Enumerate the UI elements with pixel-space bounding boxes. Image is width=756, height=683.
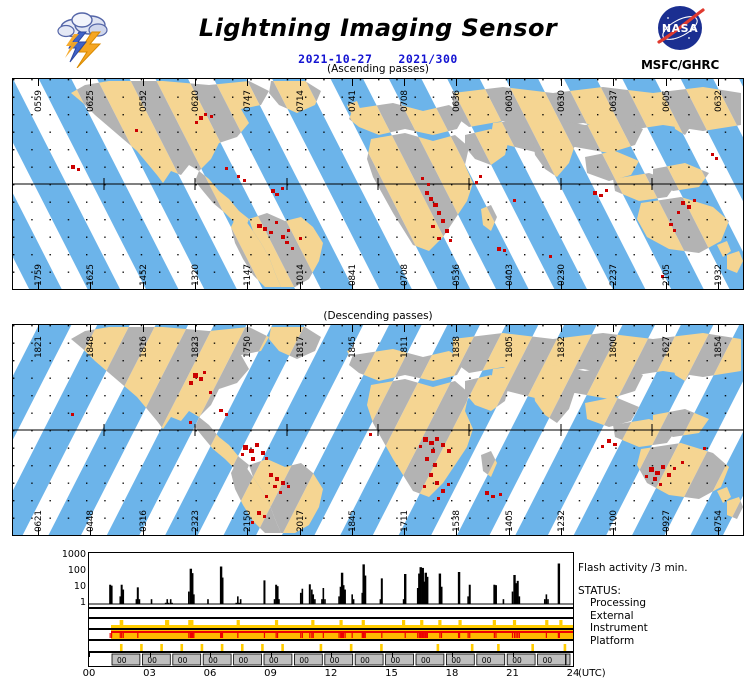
map-ascending-tick-label: 2237 bbox=[609, 264, 619, 286]
map-ascending-tick-mark bbox=[143, 79, 144, 86]
map-ascending-tick-label: 0714 bbox=[296, 90, 306, 112]
map-ascending-tick-mark bbox=[456, 282, 457, 289]
map-descending-tick-mark bbox=[143, 528, 144, 535]
time-axis-label: 03 bbox=[143, 668, 156, 679]
map-ascending-tick-label: 2105 bbox=[662, 264, 672, 286]
svg-text:00: 00 bbox=[512, 656, 522, 665]
map-descending-tick-mark bbox=[38, 325, 39, 332]
map-descending-tick-mark bbox=[718, 528, 719, 535]
map-descending-tick-label: 1811 bbox=[400, 336, 410, 358]
svg-text:00: 00 bbox=[360, 656, 370, 665]
status-band-processing bbox=[88, 608, 574, 618]
map-ascending-tick-label: 1147 bbox=[243, 264, 253, 286]
map-descending-tick-label: 1821 bbox=[34, 336, 44, 358]
map-ascending-tick-label: 0708 bbox=[400, 90, 410, 112]
map-descending-tick-label: 1848 bbox=[86, 336, 96, 358]
time-axis-unit: (UTC) bbox=[578, 668, 606, 679]
map-ascending-tick-mark bbox=[561, 79, 562, 86]
map-ascending-tick-label: 0636 bbox=[452, 90, 462, 112]
map-descending-tick-label: 2150 bbox=[243, 510, 253, 532]
map-ascending-tick-mark bbox=[38, 79, 39, 86]
map-ascending-tick-mark bbox=[718, 79, 719, 86]
y-tick-100: 100 bbox=[68, 565, 86, 576]
map-descending-tick-mark bbox=[509, 325, 510, 332]
map-descending-tick-mark bbox=[718, 325, 719, 332]
platform-band-canvas bbox=[89, 641, 573, 651]
map-descending-tick-mark bbox=[404, 528, 405, 535]
map-ascending-tick-label: 0605 bbox=[662, 90, 672, 112]
map-descending-tick-label: 1805 bbox=[505, 336, 515, 358]
map-descending-tick-label: 1845 bbox=[348, 510, 358, 532]
time-axis-label: 15 bbox=[385, 668, 398, 679]
time-axis-tick bbox=[392, 652, 393, 657]
map-ascending-tick-label: 0741 bbox=[348, 90, 358, 112]
time-axis-label: 00 bbox=[83, 668, 96, 679]
y-tick-1: 1 bbox=[80, 597, 86, 608]
map-descending-tick-mark bbox=[143, 325, 144, 332]
map-ascending-tick-label: 0536 bbox=[452, 264, 462, 286]
map-ascending-tick-label: 1932 bbox=[714, 264, 724, 286]
map-descending-tick-mark bbox=[352, 528, 353, 535]
map-ascending-tick-mark bbox=[561, 282, 562, 289]
map-ascending-tick-label: 1625 bbox=[86, 264, 96, 286]
map-descending-tick-label: 0927 bbox=[662, 510, 672, 532]
map-ascending-tick-label: 0603 bbox=[505, 90, 515, 112]
svg-text:00: 00 bbox=[543, 656, 553, 665]
map-ascending-tick-mark bbox=[195, 79, 196, 86]
map-descending-tick-mark bbox=[352, 325, 353, 332]
map-ascending-tick-mark bbox=[613, 282, 614, 289]
map-descending-tick-label: 1627 bbox=[662, 336, 672, 358]
map-descending-tick-label: 1405 bbox=[505, 510, 515, 532]
map-ascending-tick-label: 0630 bbox=[557, 90, 567, 112]
map-descending-canvas bbox=[13, 325, 743, 535]
legend-item-processing: Processing bbox=[578, 597, 753, 610]
map-ascending-tick-label: 0230 bbox=[557, 264, 567, 286]
time-axis-label: 12 bbox=[325, 668, 338, 679]
map-ascending-tick-label: 1320 bbox=[191, 264, 201, 286]
map-ascending-tick-mark bbox=[195, 282, 196, 289]
map-descending-tick-mark bbox=[404, 325, 405, 332]
svg-text:00: 00 bbox=[451, 656, 461, 665]
map-descending-tick-mark bbox=[666, 528, 667, 535]
map-ascending-tick-mark bbox=[509, 79, 510, 86]
map-ascending-tick-mark bbox=[718, 282, 719, 289]
svg-text:00: 00 bbox=[299, 656, 309, 665]
map-descending-tick-mark bbox=[561, 325, 562, 332]
page-header: Lightning Imaging Sensor 2021-10-272021/… bbox=[0, 0, 756, 76]
legend-item-external: External bbox=[578, 610, 753, 623]
map-descending-tick-mark bbox=[300, 325, 301, 332]
svg-text:00: 00 bbox=[269, 656, 279, 665]
descending-subtitle: (Descending passes) bbox=[0, 310, 756, 322]
map-descending-tick-mark bbox=[456, 528, 457, 535]
legend-status-heading: STATUS: bbox=[578, 585, 753, 598]
time-axis-label: 09 bbox=[264, 668, 277, 679]
svg-text:00: 00 bbox=[208, 656, 218, 665]
map-ascending-tick-label: 0620 bbox=[191, 90, 201, 112]
map-ascending-tick-mark bbox=[247, 79, 248, 86]
map-descending-tick-mark bbox=[38, 528, 39, 535]
map-descending-tick-mark bbox=[613, 325, 614, 332]
map-descending-tick-label: 0754 bbox=[714, 510, 724, 532]
map-descending-tick-mark bbox=[247, 528, 248, 535]
map-descending-tick-label: 1100 bbox=[609, 510, 619, 532]
y-tick-10: 10 bbox=[74, 581, 86, 592]
svg-text:00: 00 bbox=[147, 656, 157, 665]
map-ascending-frame bbox=[12, 78, 744, 290]
map-descending-tick-label: 1817 bbox=[296, 336, 306, 358]
status-band-platform bbox=[88, 640, 574, 652]
map-descending-tick-mark bbox=[509, 528, 510, 535]
time-axis-tick bbox=[271, 652, 272, 657]
map-ascending-tick-label: 1014 bbox=[296, 264, 306, 286]
map-descending-tick-label: 1838 bbox=[452, 336, 462, 358]
processing-band-canvas bbox=[89, 609, 573, 617]
svg-text:00: 00 bbox=[421, 656, 431, 665]
map-descending-frame bbox=[12, 324, 744, 536]
svg-text:00: 00 bbox=[117, 656, 127, 665]
time-axis-tick bbox=[89, 652, 90, 657]
instrument-band-canvas bbox=[89, 630, 573, 639]
map-descending-tick-label: 1845 bbox=[348, 336, 358, 358]
map-ascending-tick-mark bbox=[38, 282, 39, 289]
map-ascending-tick-mark bbox=[90, 282, 91, 289]
map-descending-tick-label: 0316 bbox=[139, 510, 149, 532]
map-descending-tick-label: 1232 bbox=[557, 510, 567, 532]
nasa-logo-block: NASA MSFC/GHRC bbox=[620, 4, 740, 72]
time-axis-tick bbox=[210, 652, 211, 657]
agency-caption: MSFC/GHRC bbox=[620, 58, 740, 72]
svg-text:00: 00 bbox=[482, 656, 492, 665]
legend-flash-activity: Flash activity /3 min. bbox=[578, 562, 753, 575]
map-ascending-tick-label: 0552 bbox=[139, 90, 149, 112]
map-descending-tick-mark bbox=[90, 325, 91, 332]
map-descending-tick-mark bbox=[247, 325, 248, 332]
map-descending-tick-mark bbox=[195, 528, 196, 535]
legend-item-instrument: Instrument bbox=[578, 622, 753, 635]
map-ascending-tick-mark bbox=[247, 282, 248, 289]
map-ascending-tick-label: 1452 bbox=[139, 264, 149, 286]
time-axis-tick bbox=[513, 652, 514, 657]
legend: Flash activity /3 min. STATUS: Processin… bbox=[578, 562, 753, 647]
map-ascending-tick-label: 0841 bbox=[348, 264, 358, 286]
time-axis: 000306091215182124(UTC) bbox=[88, 667, 618, 683]
time-axis-tick bbox=[452, 652, 453, 657]
map-ascending-tick-mark bbox=[143, 282, 144, 289]
map-ascending-tick-mark bbox=[300, 79, 301, 86]
map-ascending-tick-label: 1759 bbox=[34, 264, 44, 286]
time-axis-tick bbox=[150, 652, 151, 657]
map-descending-tick-mark bbox=[90, 528, 91, 535]
map-descending-tick-label: 1711 bbox=[400, 510, 410, 532]
flash-activity-canvas bbox=[89, 553, 573, 607]
map-descending-tick-label: 1823 bbox=[191, 336, 201, 358]
time-axis-label: 21 bbox=[506, 668, 519, 679]
map-ascending-tick-mark bbox=[300, 282, 301, 289]
map-descending-tick-mark bbox=[613, 528, 614, 535]
external-band-canvas bbox=[89, 619, 573, 628]
nasa-meatball-icon: NASA bbox=[649, 4, 711, 52]
activity-panel: 1000 100 10 1 bbox=[0, 548, 756, 680]
map-descending-tick-label: 0448 bbox=[86, 510, 96, 532]
map-ascending-passes: 0559062505520620074707140741070806360603… bbox=[12, 78, 744, 290]
svg-text:NASA: NASA bbox=[662, 22, 698, 35]
map-ascending-tick-label: 0747 bbox=[243, 90, 253, 112]
map-descending-tick-label: 0621 bbox=[34, 510, 44, 532]
svg-text:00: 00 bbox=[330, 656, 340, 665]
svg-text:00: 00 bbox=[239, 656, 249, 665]
map-ascending-tick-mark bbox=[352, 282, 353, 289]
map-descending-tick-mark bbox=[666, 325, 667, 332]
map-descending-tick-mark bbox=[561, 528, 562, 535]
legend-item-platform: Platform bbox=[578, 635, 753, 648]
map-ascending-tick-mark bbox=[90, 79, 91, 86]
flash-activity-plot bbox=[88, 552, 574, 608]
y-tick-1000: 1000 bbox=[62, 549, 86, 560]
time-axis-tick bbox=[331, 652, 332, 657]
map-ascending-tick-mark bbox=[404, 79, 405, 86]
flash-y-axis: 1000 100 10 1 bbox=[50, 552, 86, 608]
map-ascending-tick-mark bbox=[404, 282, 405, 289]
map-ascending-tick-label: 0632 bbox=[714, 90, 724, 112]
map-ascending-tick-mark bbox=[509, 282, 510, 289]
map-ascending-tick-mark bbox=[352, 79, 353, 86]
map-descending-tick-label: 2017 bbox=[296, 510, 306, 532]
map-ascending-tick-label: 0625 bbox=[86, 90, 96, 112]
map-ascending-tick-label: 0637 bbox=[609, 90, 619, 112]
map-descending-tick-mark bbox=[456, 325, 457, 332]
map-descending-tick-label: 1854 bbox=[714, 336, 724, 358]
map-ascending-tick-label: 0559 bbox=[34, 90, 44, 112]
svg-text:00: 00 bbox=[391, 656, 401, 665]
map-descending-tick-label: 1816 bbox=[139, 336, 149, 358]
map-descending-tick-mark bbox=[195, 325, 196, 332]
map-ascending-tick-mark bbox=[613, 79, 614, 86]
map-descending-passes: 1821184818161823175018171845181118381805… bbox=[12, 324, 744, 536]
svg-text:00: 00 bbox=[178, 656, 188, 665]
time-axis-tick bbox=[573, 652, 574, 657]
map-ascending-tick-mark bbox=[666, 79, 667, 86]
map-ascending-tick-label: 0708 bbox=[400, 264, 410, 286]
map-ascending-canvas bbox=[13, 79, 743, 289]
status-band-external bbox=[88, 618, 574, 629]
map-descending-tick-label: 1832 bbox=[557, 336, 567, 358]
map-ascending-tick-label: 0403 bbox=[505, 264, 515, 286]
map-ascending-tick-mark bbox=[666, 282, 667, 289]
map-ascending-tick-mark bbox=[456, 79, 457, 86]
map-descending-tick-label: 1750 bbox=[243, 336, 253, 358]
map-descending-tick-label: 2323 bbox=[191, 510, 201, 532]
map-descending-tick-mark bbox=[300, 528, 301, 535]
map-descending-tick-label: 1800 bbox=[609, 336, 619, 358]
time-axis-label: 06 bbox=[204, 668, 217, 679]
time-axis-label: 18 bbox=[446, 668, 459, 679]
status-band-instrument bbox=[88, 629, 574, 640]
map-descending-tick-label: 1538 bbox=[452, 510, 462, 532]
